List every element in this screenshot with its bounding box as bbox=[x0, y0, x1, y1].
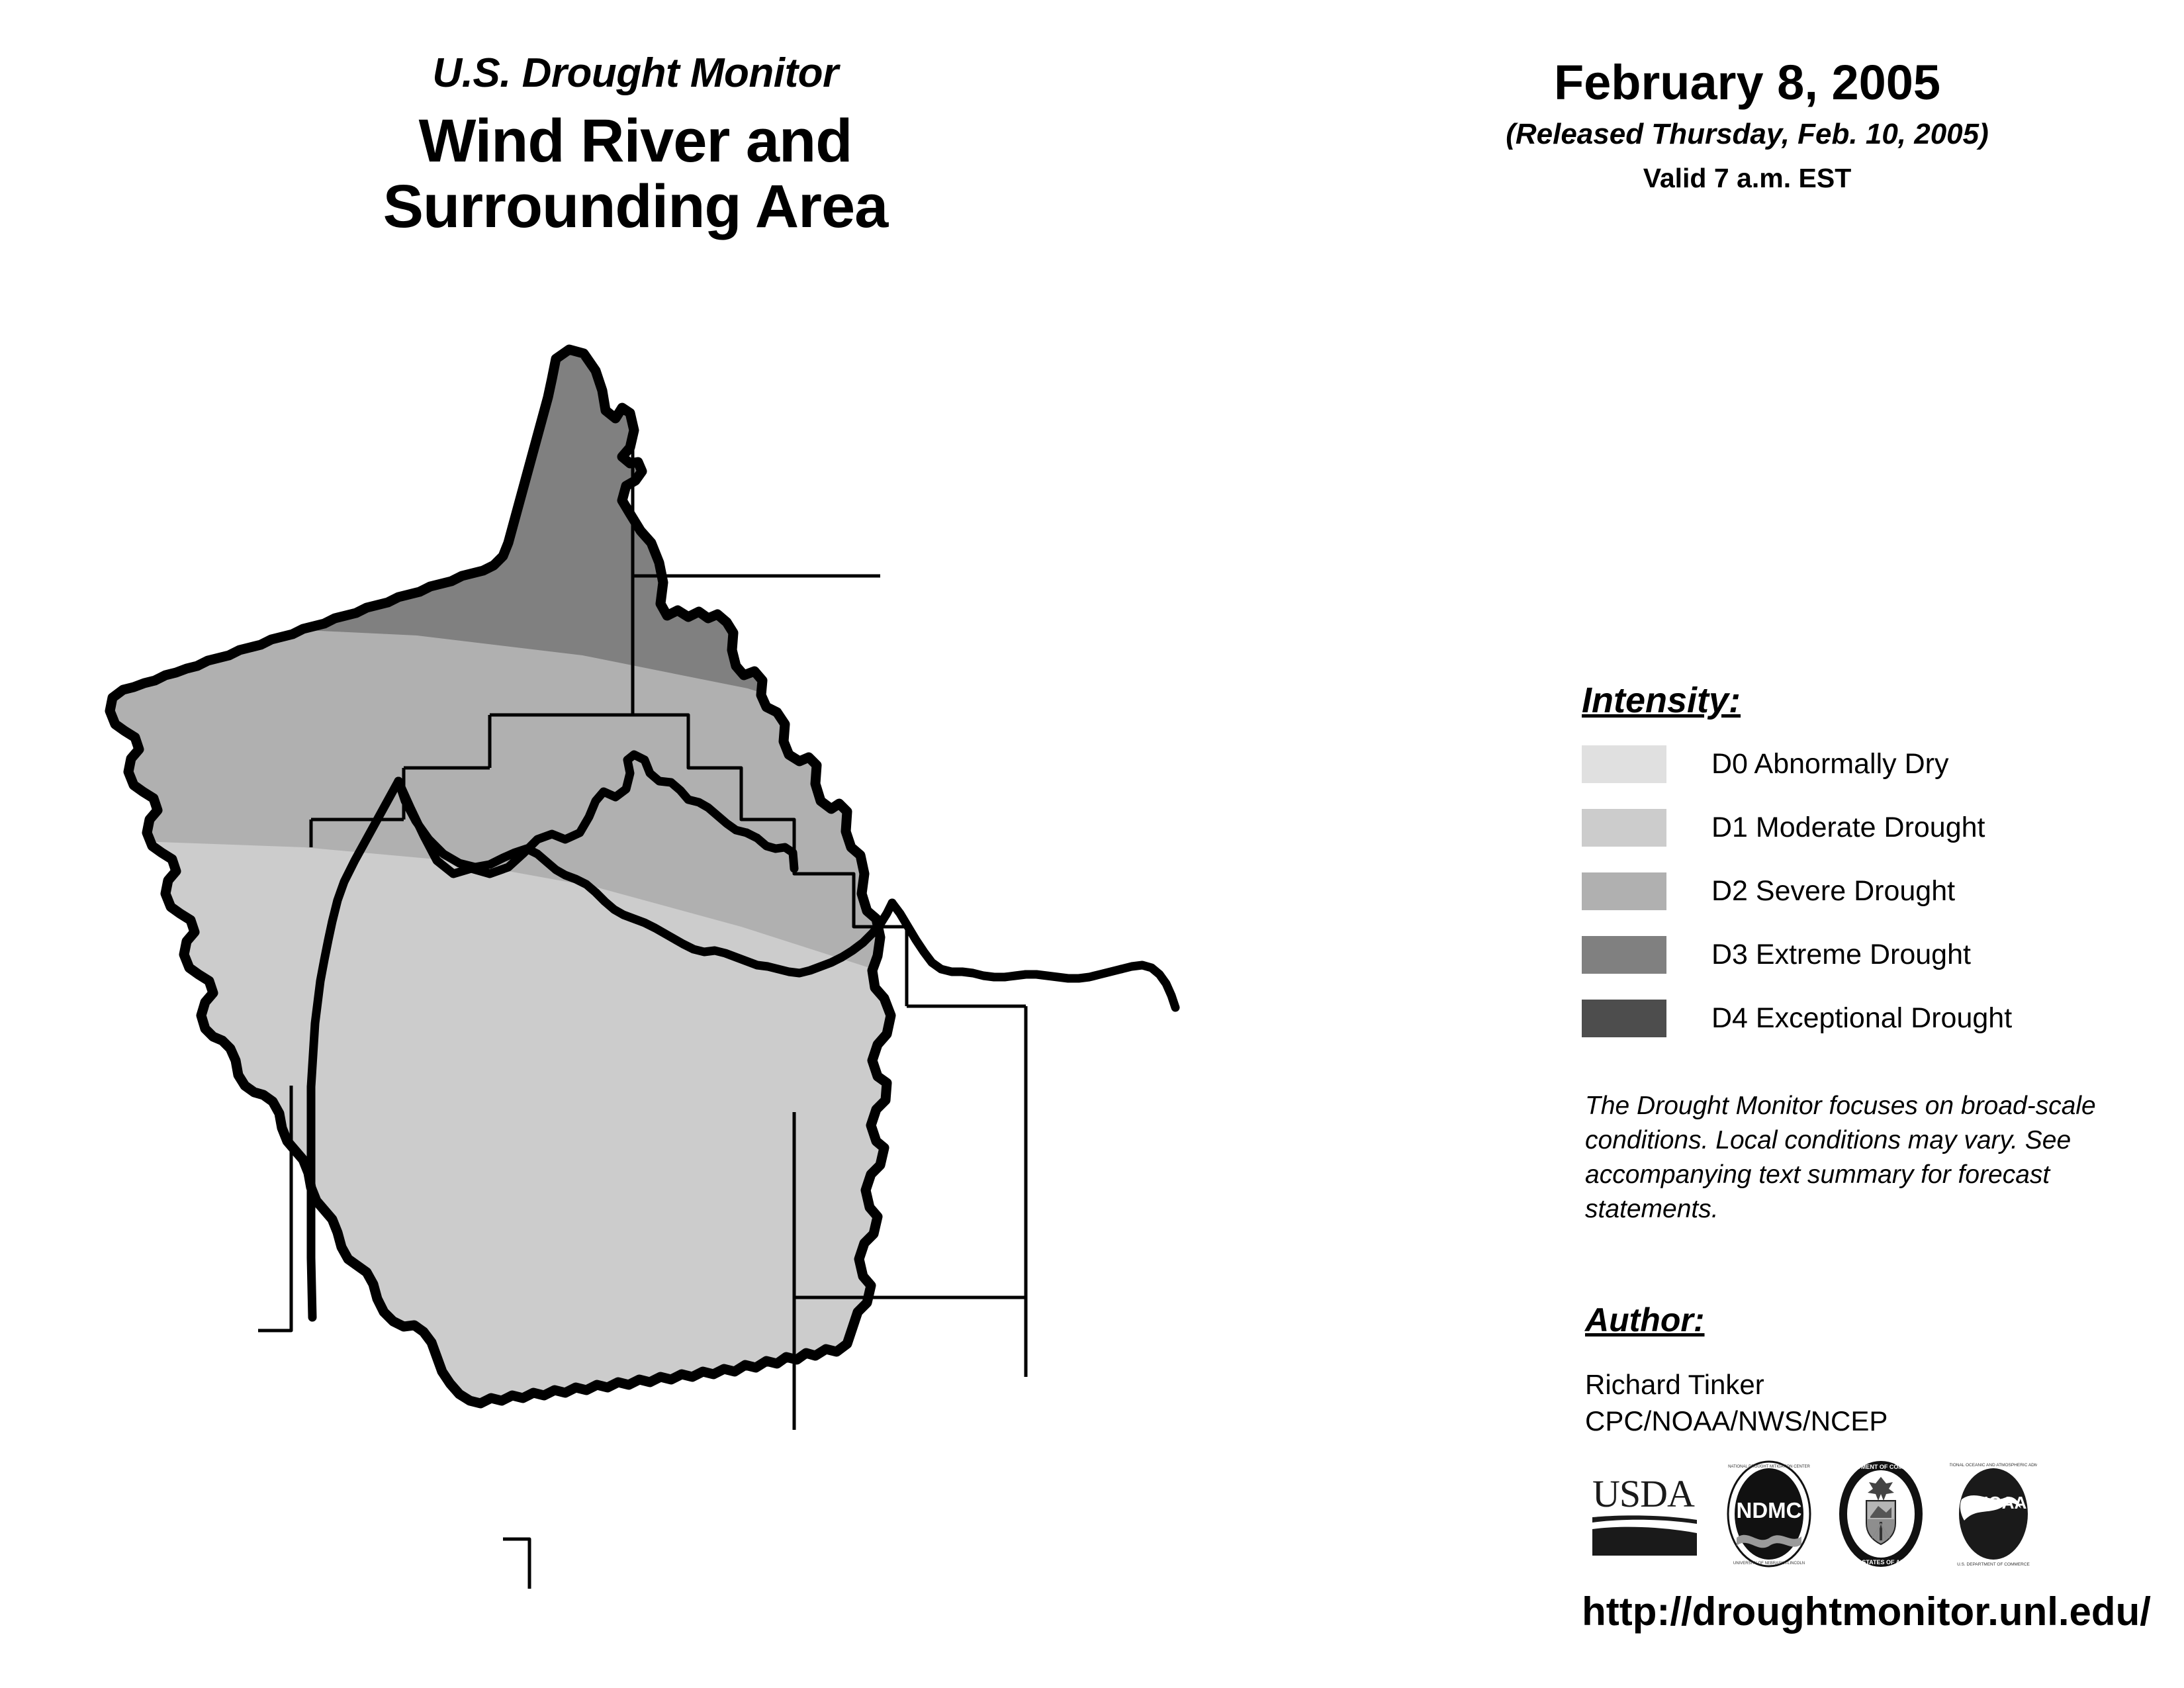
valid-time: Valid 7 a.m. EST bbox=[1456, 163, 2038, 194]
legend-swatch-d2 bbox=[1582, 872, 1666, 910]
legend-items: D0 Abnormally Dry D1 Moderate Drought D2… bbox=[1582, 741, 2111, 1043]
drought-monitor-kicker: U.S. Drought Monitor bbox=[285, 53, 986, 94]
agency-logos: USDA NDMC NATIONAL DROUGHT MITIGATION CE… bbox=[1588, 1460, 2118, 1572]
disclaimer-text: The Drought Monitor focuses on broad-sca… bbox=[1585, 1089, 2115, 1226]
svg-text:NATIONAL DROUGHT MITIGATION CE: NATIONAL DROUGHT MITIGATION CENTER bbox=[1728, 1465, 1810, 1469]
title-block: U.S. Drought Monitor Wind River and Surr… bbox=[285, 53, 986, 240]
legend-swatch-d1 bbox=[1582, 809, 1666, 847]
page-title-line1: Wind River and bbox=[285, 109, 986, 174]
legend-label-d3: D3 Extreme Drought bbox=[1711, 939, 1971, 971]
usda-logo: USDA bbox=[1588, 1468, 1701, 1564]
legend-title: Intensity: bbox=[1582, 682, 1741, 720]
svg-text:DEPARTMENT OF COMMERCE: DEPARTMENT OF COMMERCE bbox=[1837, 1464, 1925, 1470]
released-date: (Released Thursday, Feb. 10, 2005) bbox=[1456, 118, 2038, 151]
page-title-line2: Surrounding Area bbox=[285, 174, 986, 240]
ndmc-logo: NDMC NATIONAL DROUGHT MITIGATION CENTER … bbox=[1726, 1460, 1812, 1572]
legend-label-d4: D4 Exceptional Drought bbox=[1711, 1002, 2012, 1035]
legend-swatch-d3 bbox=[1582, 936, 1666, 974]
legend-swatch-d4 bbox=[1582, 1000, 1666, 1037]
legend-item-d3: D3 Extreme Drought bbox=[1582, 931, 2111, 979]
valid-date: February 8, 2005 bbox=[1456, 58, 2038, 107]
svg-text:NDMC: NDMC bbox=[1737, 1498, 1802, 1523]
legend-item-d2: D2 Severe Drought bbox=[1582, 868, 2111, 915]
doc-seal-logo: DEPARTMENT OF COMMERCE UNITED STATES OF … bbox=[1837, 1460, 1925, 1572]
intensity-legend: Intensity: D0 Abnormally Dry D1 Moderate… bbox=[1582, 682, 2111, 1058]
author-name: Richard Tinker bbox=[1585, 1367, 1888, 1403]
page-title: Wind River and Surrounding Area bbox=[285, 109, 986, 240]
svg-text:UNIVERSITY OF NEBRASKA-LINCOLN: UNIVERSITY OF NEBRASKA-LINCOLN bbox=[1733, 1562, 1805, 1566]
author-block: Richard Tinker CPC/NOAA/NWS/NCEP bbox=[1585, 1367, 1888, 1439]
legend-swatch-d0 bbox=[1582, 745, 1666, 783]
map-svg bbox=[93, 344, 1502, 1642]
legend-item-d1: D1 Moderate Drought bbox=[1582, 804, 2111, 852]
legend-item-d0: D0 Abnormally Dry bbox=[1582, 741, 2111, 788]
author-heading: Author: bbox=[1585, 1301, 1705, 1339]
legend-label-d2: D2 Severe Drought bbox=[1711, 875, 1955, 908]
svg-text:NOAA: NOAA bbox=[1976, 1493, 2027, 1513]
svg-text:UNITED STATES OF AMERICA: UNITED STATES OF AMERICA bbox=[1838, 1559, 1924, 1566]
legend-item-d4: D4 Exceptional Drought bbox=[1582, 995, 2111, 1043]
noaa-logo: NOAA NATIONAL OCEANIC AND ATMOSPHERIC AD… bbox=[1950, 1460, 2037, 1572]
website-url[interactable]: http://droughtmonitor.unl.edu/ bbox=[1569, 1589, 2164, 1634]
drought-map bbox=[93, 344, 1502, 1642]
legend-label-d1: D1 Moderate Drought bbox=[1711, 812, 1985, 844]
legend-label-d0: D0 Abnormally Dry bbox=[1711, 748, 1948, 780]
svg-text:U.S. DEPARTMENT OF COMMERCE: U.S. DEPARTMENT OF COMMERCE bbox=[1957, 1562, 2030, 1567]
author-affiliation: CPC/NOAA/NWS/NCEP bbox=[1585, 1403, 1888, 1440]
date-block: February 8, 2005 (Released Thursday, Feb… bbox=[1456, 58, 2038, 194]
svg-text:NATIONAL OCEANIC AND ATMOSPHER: NATIONAL OCEANIC AND ATMOSPHERIC ADMIN. bbox=[1950, 1463, 2037, 1468]
svg-text:USDA: USDA bbox=[1592, 1472, 1695, 1515]
